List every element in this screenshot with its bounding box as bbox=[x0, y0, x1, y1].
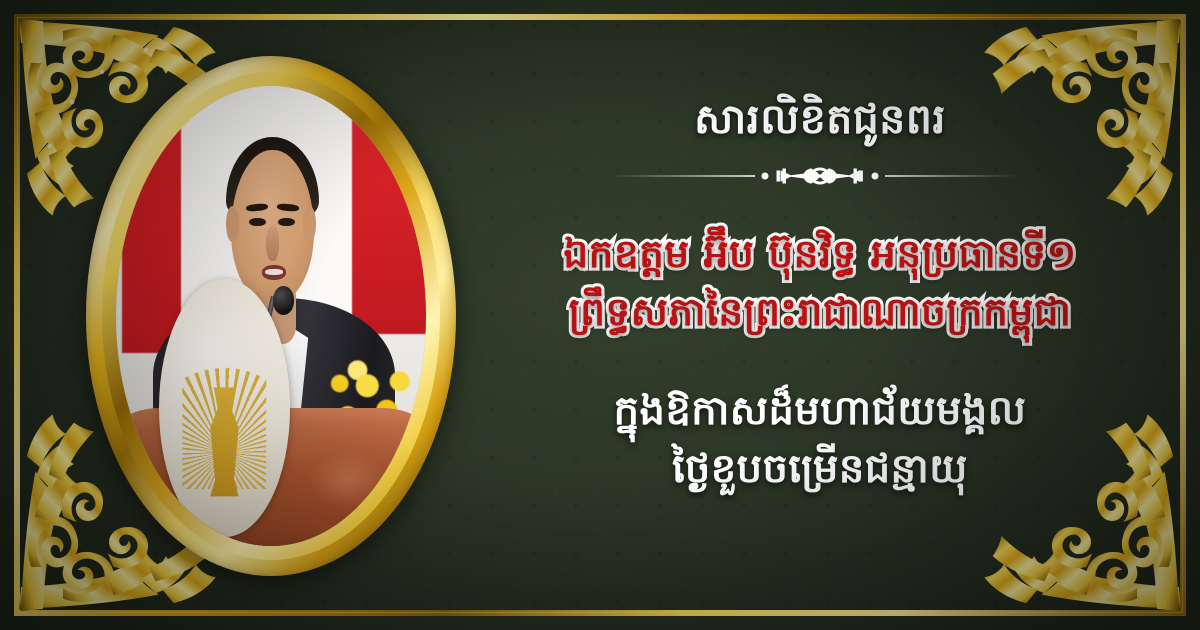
occasion-line-1: ក្នុងឱកាសដ៏មហាជ័យមង្គល bbox=[470, 385, 1170, 439]
ornamental-divider-icon bbox=[605, 163, 1035, 189]
senate-emblem-icon bbox=[159, 279, 289, 537]
message-column: សារលិខិតជូនពរ bbox=[470, 70, 1170, 497]
honoree-line-2: ព្រឹទ្ធសភានៃព្រះរាជាណាចក្រកម្ពុជា bbox=[470, 287, 1170, 339]
greeting-poster: សារលិខិតជូនពរ bbox=[0, 0, 1200, 630]
page-title: សារលិខិតជូនពរ bbox=[470, 92, 1170, 147]
honoree-line-1: ឯកឧត្តម អ៊ឹប ប៊ុនវិទ្ធ អនុប្រធានទី១ bbox=[470, 229, 1170, 281]
backdrop-red-left bbox=[122, 86, 181, 353]
occasion-line-2: ថ្ងៃខួបចម្រើនជន្មាយុ bbox=[470, 443, 1170, 497]
occasion-block: ក្នុងឱកាសដ៏មហាជ័យមង្គល ថ្ងៃខួបចម្រើនជន្ម… bbox=[470, 385, 1170, 496]
honoree-block: ឯកឧត្តម អ៊ឹប ប៊ុនវិទ្ធ អនុប្រធានទី១ ព្រឹ… bbox=[470, 229, 1170, 340]
microphone-icon bbox=[273, 286, 295, 315]
portrait-photo bbox=[116, 86, 426, 546]
backdrop-red-right bbox=[352, 86, 426, 334]
portrait-oval-frame bbox=[86, 56, 456, 576]
